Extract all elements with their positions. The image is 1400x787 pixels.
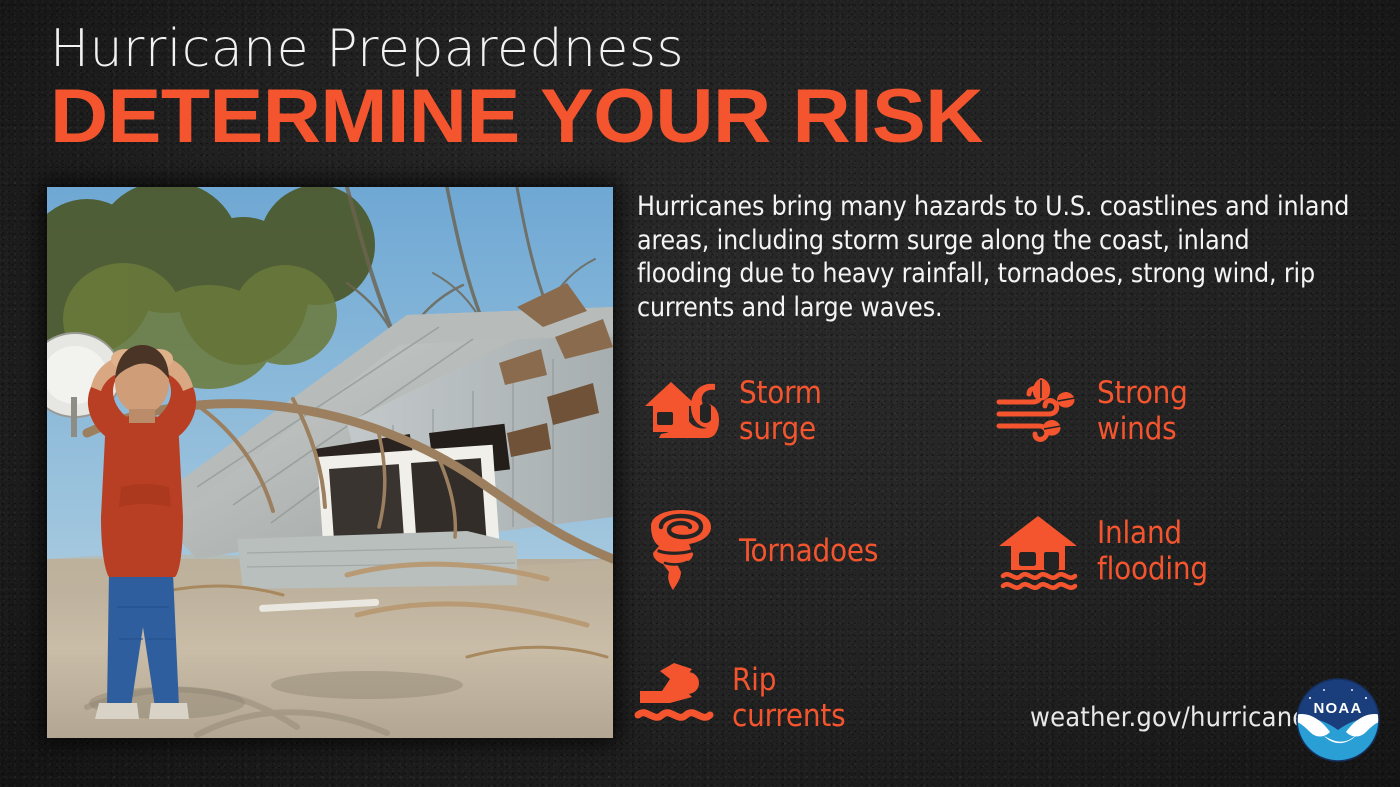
page-title: DETERMINE YOUR RISK [50,76,983,158]
hazard-item-strong-winds: Strong winds [995,368,1188,454]
rip-currents-icon [630,655,716,741]
hazard-item-tornadoes: Tornadoes [637,508,878,594]
hazard-item-rip-currents: Rip currents [630,655,845,741]
storm-surge-icon [637,368,723,454]
hazard-item-storm-surge: Storm surge [637,368,822,454]
hazard-label-inland-flooding: Inland flooding [1097,515,1208,587]
poster-canvas: Hurricane Preparedness DETERMINE YOUR RI… [0,0,1400,787]
intro-paragraph: Hurricanes bring many hazards to U.S. co… [637,190,1351,324]
website-url[interactable]: weather.gov/hurricane [1030,702,1307,734]
hazard-label-tornadoes: Tornadoes [739,533,878,569]
hazard-label-storm-surge: Storm surge [739,375,822,447]
eyebrow-title: Hurricane Preparedness [50,20,684,78]
inland-flooding-icon [995,508,1081,594]
strong-winds-icon [995,368,1081,454]
tornado-icon [637,508,723,594]
noaa-logo: NOAA [1294,676,1382,764]
noaa-logo-text: NOAA [1314,700,1363,717]
hurricane-damage-photo [47,187,613,738]
hazard-label-rip-currents: Rip currents [732,662,845,734]
hazard-item-inland-flooding: Inland flooding [995,508,1208,594]
hazard-label-strong-winds: Strong winds [1097,375,1188,447]
